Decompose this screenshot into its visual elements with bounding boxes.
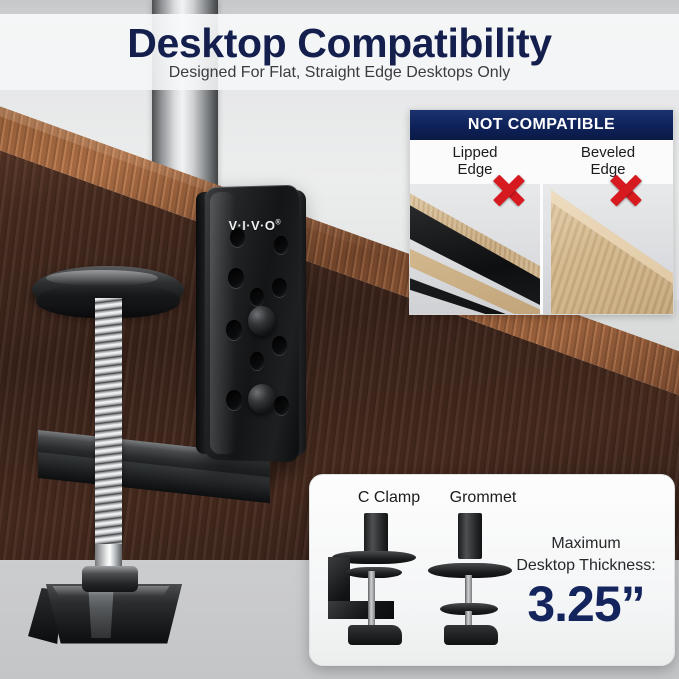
plate-hole bbox=[250, 288, 264, 306]
vivo-logo-text: V·I·V·O bbox=[229, 218, 276, 233]
max-thickness-line2: Desktop Thickness: bbox=[506, 555, 666, 577]
lipped-edge-label-line1: Lipped bbox=[410, 144, 540, 161]
plate-boss bbox=[248, 306, 276, 336]
plate-hole bbox=[228, 268, 244, 288]
plate-hole bbox=[226, 390, 242, 410]
not-compatible-panel: NOT COMPATIBLE Lipped Edge Beveled bbox=[409, 109, 674, 315]
spec-card: C Clamp Grommet Maximum Desktop Thicknes… bbox=[309, 474, 675, 666]
vivo-brand-logo: V·I·V·O® bbox=[229, 218, 281, 233]
plate-boss bbox=[248, 384, 276, 414]
page-title: Desktop Compatibility bbox=[0, 20, 679, 67]
clamp-threaded-screw bbox=[95, 298, 122, 556]
beveled-edge-label-line1: Beveled bbox=[543, 144, 673, 161]
max-thickness-label: Maximum Desktop Thickness: bbox=[506, 533, 666, 577]
clamp-pad-highlight bbox=[46, 270, 158, 286]
beveled-edge-cell: Beveled Edge bbox=[543, 140, 673, 314]
max-thickness-value: 3.25” bbox=[506, 575, 666, 633]
page-subtitle: Designed For Flat, Straight Edge Desktop… bbox=[0, 64, 679, 82]
plate-hole bbox=[272, 278, 287, 297]
x-mark-icon bbox=[605, 170, 645, 210]
infographic-canvas: V·I·V·O® Desktop Compatibility Designed … bbox=[0, 0, 679, 679]
plate-hole bbox=[274, 236, 288, 254]
grommet-label: Grommet bbox=[428, 489, 538, 507]
x-mark-icon bbox=[488, 170, 528, 210]
plate-hole bbox=[250, 352, 264, 370]
clamp-knob-collar bbox=[82, 566, 138, 592]
lipped-edge-cell: Lipped Edge bbox=[410, 140, 543, 314]
not-compatible-header: NOT COMPATIBLE bbox=[410, 110, 673, 140]
plate-hole bbox=[274, 396, 289, 415]
not-compatible-cells: Lipped Edge Beveled Edge bbox=[410, 140, 673, 314]
plate-hole bbox=[272, 336, 287, 355]
plate-hole bbox=[226, 320, 242, 340]
not-compatible-title: NOT COMPATIBLE bbox=[468, 116, 615, 134]
max-thickness-line1: Maximum bbox=[506, 533, 666, 555]
registered-mark: ® bbox=[275, 220, 281, 227]
